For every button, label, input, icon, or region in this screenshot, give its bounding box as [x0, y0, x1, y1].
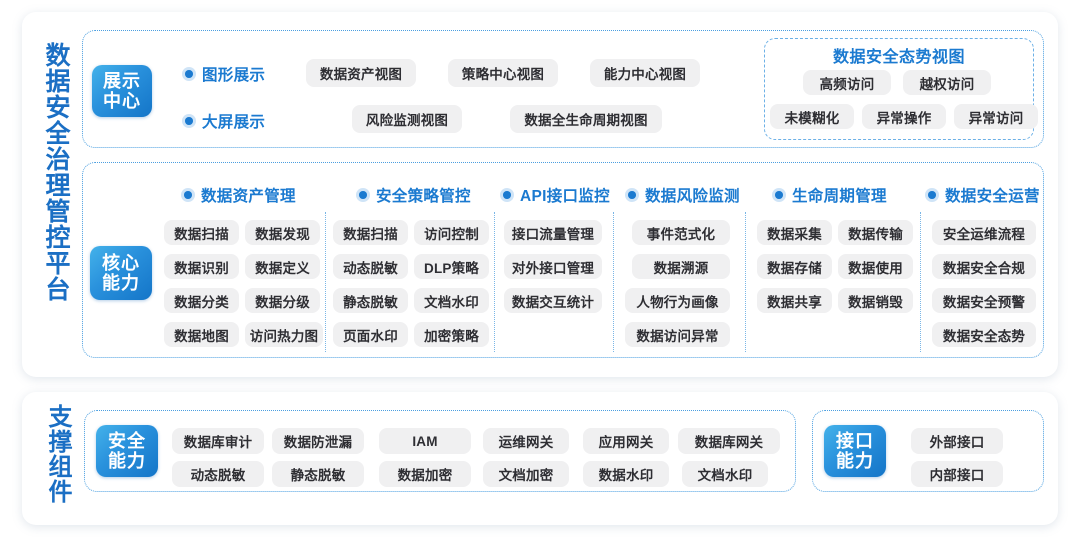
view-pill-full-lifecycle[interactable]: 数据全生命周期视图: [510, 105, 662, 133]
platform-title-vertical: 数据安全治理管控平台: [30, 42, 72, 302]
situation-pill-abnormal-access[interactable]: 异常访问: [954, 104, 1038, 129]
core-item-pill[interactable]: 接口流量管理: [504, 220, 602, 245]
security-pill[interactable]: 运维网关: [483, 428, 569, 454]
core-item-pill[interactable]: 数据定义: [245, 254, 320, 279]
security-capability-badge[interactable]: 安全 能力: [96, 425, 158, 477]
security-pill[interactable]: 动态脱敏: [172, 461, 264, 487]
bullet-dot-icon: [500, 188, 514, 202]
core-heading-lifecycle-management[interactable]: 生命周期管理: [772, 184, 887, 206]
situation-pill-privilege-escalation[interactable]: 越权访问: [903, 70, 991, 95]
core-heading-data-asset-management[interactable]: 数据资产管理: [181, 184, 296, 206]
bullet-dot-icon: [625, 188, 639, 202]
security-capability-badge-line1: 安全: [108, 431, 146, 451]
core-item-pill[interactable]: 人物行为画像: [625, 288, 730, 313]
situation-view-title: 数据安全态势视图: [764, 43, 1034, 67]
security-pill[interactable]: 应用网关: [583, 428, 669, 454]
core-item-pill[interactable]: 数据安全合规: [932, 254, 1036, 279]
api-pill[interactable]: 内部接口: [911, 461, 1003, 487]
core-item-pill[interactable]: 数据使用: [838, 254, 913, 279]
bullet-dot-icon: [181, 188, 195, 202]
api-pill[interactable]: 外部接口: [911, 428, 1003, 454]
core-item-pill[interactable]: 数据发现: [245, 220, 320, 245]
core-item-pill[interactable]: 数据交互统计: [504, 288, 602, 313]
core-item-pill[interactable]: 访问热力图: [245, 322, 323, 347]
core-item-pill[interactable]: 数据传输: [838, 220, 913, 245]
core-item-pill[interactable]: 数据扫描: [164, 220, 239, 245]
bullet-dot-icon: [356, 188, 370, 202]
bullet-dot-icon: [182, 67, 196, 81]
core-item-pill[interactable]: DLP策略: [414, 254, 489, 279]
api-capability-badge-line2: 能力: [836, 451, 874, 471]
core-item-pill[interactable]: 数据采集: [757, 220, 832, 245]
view-pill-capability-center[interactable]: 能力中心视图: [590, 59, 700, 87]
core-item-pill[interactable]: 数据访问异常: [625, 322, 730, 347]
core-heading-label: 数据风险监测: [645, 184, 740, 206]
core-heading-label: API接口监控: [520, 184, 610, 206]
bullet-dot-icon: [772, 188, 786, 202]
core-item-pill[interactable]: 事件范式化: [632, 220, 730, 245]
view-pill-data-asset[interactable]: 数据资产视图: [306, 59, 416, 87]
security-pill[interactable]: 数据库网关: [678, 428, 780, 454]
security-pill[interactable]: 数据防泄漏: [272, 428, 364, 454]
core-heading-label: 生命周期管理: [792, 184, 887, 206]
security-pill[interactable]: 数据加密: [379, 461, 471, 487]
core-item-pill[interactable]: 数据溯源: [632, 254, 730, 279]
security-pill[interactable]: 静态脱敏: [272, 461, 364, 487]
core-item-pill[interactable]: 文档水印: [414, 288, 489, 313]
security-pill[interactable]: 文档水印: [682, 461, 768, 487]
core-item-pill[interactable]: 数据安全态势: [932, 322, 1036, 347]
core-item-pill[interactable]: 数据安全预警: [932, 288, 1036, 313]
core-item-pill[interactable]: 访问控制: [414, 220, 489, 245]
security-pill[interactable]: 数据水印: [583, 461, 669, 487]
core-item-pill[interactable]: 安全运维流程: [932, 220, 1036, 245]
core-item-pill[interactable]: 页面水印: [333, 322, 408, 347]
core-item-pill[interactable]: 数据分类: [164, 288, 239, 313]
display-mode-bigscreen[interactable]: 大屏展示: [182, 110, 265, 132]
support-title-vertical: 支撑组件: [30, 404, 72, 504]
api-capability-badge-line1: 接口: [836, 431, 874, 451]
display-center-badge-line1: 展示: [103, 71, 141, 91]
core-item-pill[interactable]: 数据销毁: [838, 288, 913, 313]
core-item-pill[interactable]: 数据存储: [757, 254, 832, 279]
core-heading-security-policy-control[interactable]: 安全策略管控: [356, 184, 471, 206]
security-pill[interactable]: 文档加密: [483, 461, 569, 487]
core-item-pill[interactable]: 加密策略: [414, 322, 489, 347]
diagram-canvas: 数据安全治理管控平台 展示 中心 图形展示 大屏展示 数据资产视图 策略中心视图…: [0, 0, 1080, 538]
core-capability-badge-line2: 能力: [102, 273, 140, 293]
column-divider: [920, 212, 921, 352]
api-capability-badge[interactable]: 接口 能力: [824, 425, 886, 477]
situation-pill-high-frequency[interactable]: 高频访问: [803, 70, 891, 95]
situation-pill-unmasked[interactable]: 未模糊化: [770, 104, 854, 129]
column-divider: [745, 212, 746, 352]
core-heading-label: 数据安全运营: [945, 184, 1040, 206]
display-mode-graphic[interactable]: 图形展示: [182, 63, 265, 85]
core-item-pill[interactable]: 静态脱敏: [333, 288, 408, 313]
view-pill-risk-monitor[interactable]: 风险监测视图: [352, 105, 462, 133]
core-item-pill[interactable]: 数据识别: [164, 254, 239, 279]
display-mode-graphic-label: 图形展示: [202, 63, 265, 85]
column-divider: [613, 212, 614, 352]
bullet-dot-icon: [182, 114, 196, 128]
core-item-pill[interactable]: 动态脱敏: [333, 254, 408, 279]
core-heading-label: 数据资产管理: [201, 184, 296, 206]
core-capability-badge[interactable]: 核心 能力: [90, 246, 152, 300]
core-heading-data-security-operations[interactable]: 数据安全运营: [925, 184, 1040, 206]
core-item-pill[interactable]: 数据分级: [245, 288, 320, 313]
core-item-pill[interactable]: 数据扫描: [333, 220, 408, 245]
security-pill[interactable]: 数据库审计: [172, 428, 264, 454]
core-item-pill[interactable]: 数据共享: [757, 288, 832, 313]
core-heading-label: 安全策略管控: [376, 184, 471, 206]
display-center-badge[interactable]: 展示 中心: [92, 65, 152, 117]
bullet-dot-icon: [925, 188, 939, 202]
display-mode-bigscreen-label: 大屏展示: [202, 110, 265, 132]
situation-pill-abnormal-operation[interactable]: 异常操作: [862, 104, 946, 129]
column-divider: [494, 212, 495, 352]
view-pill-policy-center[interactable]: 策略中心视图: [448, 59, 558, 87]
core-item-pill[interactable]: 对外接口管理: [504, 254, 602, 279]
security-capability-badge-line2: 能力: [108, 451, 146, 471]
core-item-pill[interactable]: 数据地图: [164, 322, 239, 347]
column-divider: [325, 212, 326, 352]
core-heading-api-monitoring[interactable]: API接口监控: [500, 184, 610, 206]
display-center-badge-line2: 中心: [103, 91, 141, 111]
core-heading-data-risk-monitoring[interactable]: 数据风险监测: [625, 184, 740, 206]
security-pill[interactable]: IAM: [379, 428, 471, 454]
core-capability-badge-line1: 核心: [102, 253, 140, 273]
